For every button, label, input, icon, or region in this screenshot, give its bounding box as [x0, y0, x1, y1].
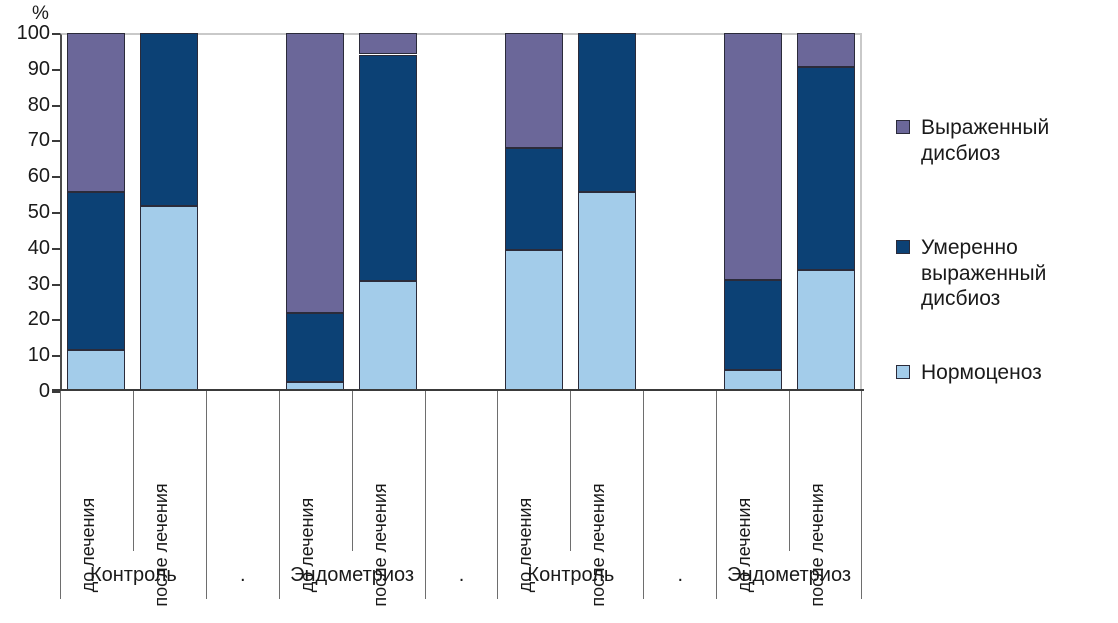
- y-axis-tick-mark: [52, 248, 60, 250]
- y-axis-tick-labels: 1009080706050403020100: [0, 0, 50, 623]
- bar-segment-severe-dysbiosis: [359, 33, 417, 54]
- y-axis-tick-mark: [52, 140, 60, 142]
- x-axis-cell-treatment-phase: до лечения: [279, 391, 352, 551]
- bar-segment-normocenosis: [724, 370, 782, 391]
- x-axis-cell-treatment-phase: до лечения: [497, 391, 570, 551]
- y-axis-tick-mark: [52, 33, 60, 35]
- x-axis-cell-empty: [425, 391, 498, 551]
- bar-segment-normocenosis: [359, 281, 417, 391]
- bar-column: [505, 33, 563, 391]
- x-axis-group-label-cell: .: [425, 551, 498, 599]
- y-axis-tick-mark: [52, 391, 60, 393]
- y-axis-tick-label: 100: [4, 23, 50, 43]
- bar-segment-severe-dysbiosis: [505, 33, 563, 148]
- y-axis-tick-mark: [52, 176, 60, 178]
- x-axis-cell-empty: [643, 391, 716, 551]
- y-axis-tick-label: 60: [4, 166, 50, 186]
- legend-color-swatch-icon: [896, 365, 910, 379]
- y-axis-tick-label: 70: [4, 130, 50, 150]
- y-axis-tick-label: 50: [4, 202, 50, 222]
- bar-column: [140, 33, 198, 391]
- x-axis-cell-treatment-phase: после лечения: [789, 391, 862, 551]
- x-axis-cell-treatment-phase: после лечения: [133, 391, 206, 551]
- legend-item-label: Нормоценоз: [921, 360, 1042, 386]
- y-axis-tick-label: 90: [4, 59, 50, 79]
- bar-column: [359, 33, 417, 391]
- bar-segment-severe-dysbiosis: [286, 33, 344, 313]
- x-axis-group-label-cell: Эндометриоз: [716, 551, 862, 599]
- bar-column: [67, 33, 125, 391]
- bar-segment-moderate-dysbiosis: [724, 280, 782, 370]
- x-axis-group-label: Эндометриоз: [727, 565, 851, 585]
- bar-column: [578, 33, 636, 391]
- y-axis-tick-mark: [52, 105, 60, 107]
- y-axis-tick-label: 20: [4, 309, 50, 329]
- x-axis-cell-treatment-phase: до лечения: [60, 391, 133, 551]
- x-axis-group-label-cell: .: [643, 551, 716, 599]
- x-axis-group-label-cell: Эндометриоз: [279, 551, 425, 599]
- x-axis-group-label: .: [240, 565, 246, 585]
- legend-item-label: Умеренно выраженный дисбиоз: [921, 235, 1101, 312]
- bar-segment-moderate-dysbiosis: [286, 313, 344, 381]
- bar-segment-normocenosis: [578, 192, 636, 391]
- plot-area: [60, 33, 862, 391]
- bar-segment-moderate-dysbiosis: [797, 67, 855, 270]
- x-axis-cell-treatment-phase: после лечения: [352, 391, 425, 551]
- x-axis-group-label: Эндометриоз: [290, 565, 414, 585]
- stacked-bar-chart: % 1009080706050403020100 до леченияпосле…: [0, 0, 1118, 623]
- y-axis-tick-mark: [52, 319, 60, 321]
- bar-segment-moderate-dysbiosis: [578, 33, 636, 192]
- x-axis-cell-treatment-phase: до лечения: [716, 391, 789, 551]
- y-axis-tick-label: 10: [4, 345, 50, 365]
- x-axis-group-label: .: [459, 565, 465, 585]
- bar-segment-normocenosis: [505, 250, 563, 391]
- bar-column: [724, 33, 782, 391]
- x-axis-group-label-cell: Контроль: [497, 551, 643, 599]
- bar-segment-normocenosis: [140, 206, 198, 391]
- x-axis-group-label: Контроль: [90, 565, 177, 585]
- legend-item[interactable]: Умеренно выраженный дисбиоз: [896, 235, 1101, 312]
- bar-segment-moderate-dysbiosis: [505, 148, 563, 249]
- x-axis-group-label: .: [677, 565, 683, 585]
- legend-item[interactable]: Нормоценоз: [896, 360, 1042, 386]
- legend-color-swatch-icon: [896, 120, 910, 134]
- y-axis-tick-mark: [52, 69, 60, 71]
- bar-segment-normocenosis: [67, 350, 125, 391]
- bar-segment-moderate-dysbiosis: [140, 33, 198, 206]
- x-axis-group-label-cell: .: [206, 551, 279, 599]
- x-axis-group-label-cell: Контроль: [60, 551, 206, 599]
- bar-segment-severe-dysbiosis: [724, 33, 782, 280]
- bar-segment-moderate-dysbiosis: [359, 55, 417, 281]
- y-axis-tick-label: 0: [4, 381, 50, 401]
- x-axis-category-labels: до леченияпосле лечениядо леченияпосле л…: [60, 391, 864, 599]
- y-axis-tick-mark: [52, 284, 60, 286]
- y-axis-tick-mark: [52, 212, 60, 214]
- legend-item[interactable]: Выраженный дисбиоз: [896, 115, 1101, 166]
- y-axis-tick-label: 40: [4, 238, 50, 258]
- x-axis-cell-empty: [206, 391, 279, 551]
- y-axis-tick-label: 80: [4, 95, 50, 115]
- bar-segment-severe-dysbiosis: [797, 33, 855, 67]
- bar-column: [797, 33, 855, 391]
- chart-legend: Выраженный дисбиозУмеренно выраженный ди…: [896, 0, 1118, 623]
- x-axis-cell-treatment-phase: после лечения: [570, 391, 643, 551]
- x-axis-group-label: Контроль: [527, 565, 614, 585]
- bar-segment-moderate-dysbiosis: [67, 192, 125, 350]
- bar-segment-normocenosis: [797, 270, 855, 391]
- bar-column: [286, 33, 344, 391]
- legend-item-label: Выраженный дисбиоз: [921, 115, 1101, 166]
- bar-segment-severe-dysbiosis: [67, 33, 125, 192]
- y-axis-tick-mark: [52, 355, 60, 357]
- legend-color-swatch-icon: [896, 240, 910, 254]
- y-axis-tick-label: 30: [4, 274, 50, 294]
